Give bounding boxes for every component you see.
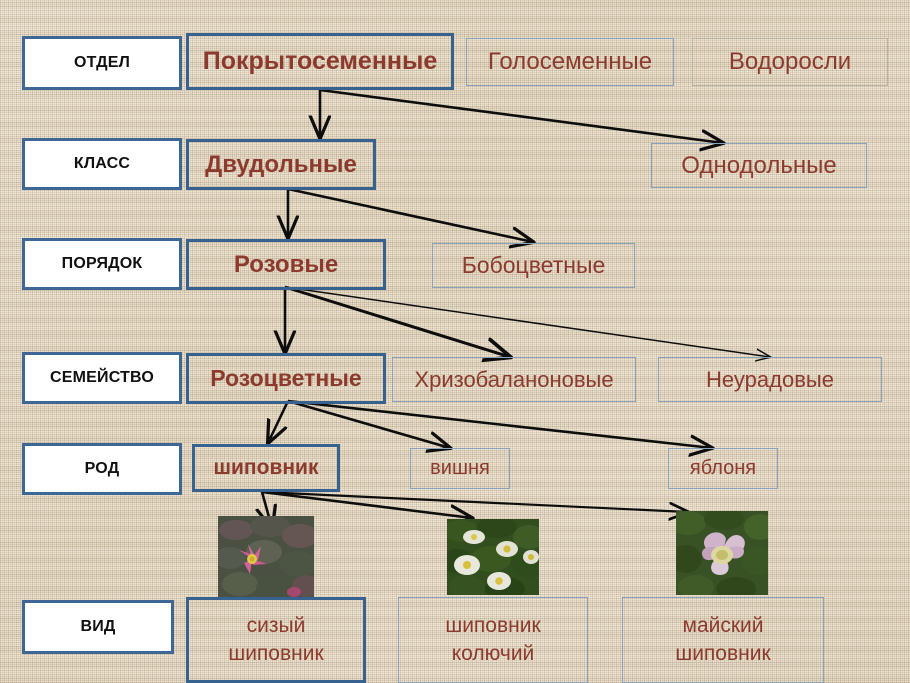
rank-label-otdel: ОТДЕЛ [22,36,182,90]
rank-label-vid: ВИД [22,600,174,654]
taxon-bobotsvetnye-text: Бобоцветные [462,252,606,279]
taxon-shipovnik[interactable]: шиповник [192,444,340,492]
arrow-rozotsvetnye-to-shipovnik [268,401,288,443]
rank-label-vid-text: ВИД [80,618,115,636]
taxon-khrizobalanovye[interactable]: Хризобаланоновые [392,357,636,402]
rank-label-poryadok-text: ПОРЯДОК [62,255,143,273]
taxon-neuradovye[interactable]: Неурадовые [658,357,882,402]
species-shipovnik-kolyuchiy[interactable]: шиповник колючий [398,597,588,683]
rank-label-semeystvo-text: СЕМЕЙСТВО [50,369,154,387]
taxon-neuradovye-text: Неурадовые [706,367,834,393]
species-mayskiy-shipovnik-line1: майский [683,612,764,640]
arrow-shipovnik-to-mayskiy [262,492,688,512]
photo-rosa-majalis [676,511,768,595]
taxon-vishnya-text: вишня [430,457,490,480]
rank-label-semeystvo: СЕМЕЙСТВО [22,352,182,404]
taxon-rozovye-text: Розовые [234,251,338,279]
arrow-rozovye-to-khrizobalanovye [285,287,510,357]
taxon-rozotsvetnye[interactable]: Розоцветные [186,353,386,404]
arrow-rozovye-to-neuradovye [285,287,770,357]
species-mayskiy-shipovnik-line2: шиповник [675,640,770,668]
taxon-rozotsvetnye-text: Розоцветные [210,365,361,392]
rank-label-poryadok: ПОРЯДОК [22,238,182,290]
arrow-rozotsvetnye-to-yablonya [288,401,712,448]
rank-label-otdel-text: ОТДЕЛ [74,54,130,72]
taxon-golosemennye[interactable]: Голосеменные [466,38,674,86]
photo-rosa-glauca [218,516,314,598]
taxon-vodorosli[interactable]: Водоросли [692,38,888,86]
species-sizyy-shipovnik-line2: шиповник [228,640,323,668]
species-shipovnik-kolyuchiy-line2: колючий [452,640,535,668]
taxon-rozovye[interactable]: Розовые [186,239,386,290]
rank-label-klass: КЛАСС [22,138,182,190]
taxon-pokrytosemennye-text: Покрытосеменные [203,47,438,76]
arrow-shipovnik-to-kolyuchiy [262,492,472,518]
taxon-bobotsvetnye[interactable]: Бобоцветные [432,243,635,288]
taxon-odnodolnye-text: Однодольные [681,152,836,180]
arrow-pokrytosemennye-to-odnodolnye [320,90,723,143]
rank-label-rod-text: РОД [85,460,120,478]
taxon-yablonya-text: яблоня [690,457,756,480]
taxon-shipovnik-text: шиповник [214,456,319,480]
taxon-khrizobalanovye-text: Хризобаланоновые [414,367,613,393]
species-sizyy-shipovnik-line1: сизый [247,612,306,640]
species-sizyy-shipovnik[interactable]: сизый шиповник [186,597,366,683]
rank-label-rod: РОД [22,443,182,495]
species-mayskiy-shipovnik[interactable]: майский шиповник [622,597,824,683]
taxonomy-diagram: ОТДЕЛ Покрытосеменные Голосеменные Водор… [0,0,910,683]
taxon-vodorosli-text: Водоросли [729,48,851,76]
arrow-dvudolnye-to-bobotsvetnye [288,189,533,242]
species-shipovnik-kolyuchiy-line1: шиповник [445,612,540,640]
taxon-odnodolnye[interactable]: Однодольные [651,143,867,188]
taxon-dvudolnye[interactable]: Двудольные [186,139,376,190]
taxon-dvudolnye-text: Двудольные [205,151,357,179]
arrow-rozotsvetnye-to-vishnya [288,401,450,448]
taxon-vishnya[interactable]: вишня [410,448,510,489]
taxon-golosemennye-text: Голосеменные [488,48,652,76]
taxon-pokrytosemennye[interactable]: Покрытосеменные [186,33,454,90]
rank-label-klass-text: КЛАСС [74,155,130,173]
taxon-yablonya[interactable]: яблоня [668,448,778,489]
photo-rosa-spinosissima [447,519,539,595]
